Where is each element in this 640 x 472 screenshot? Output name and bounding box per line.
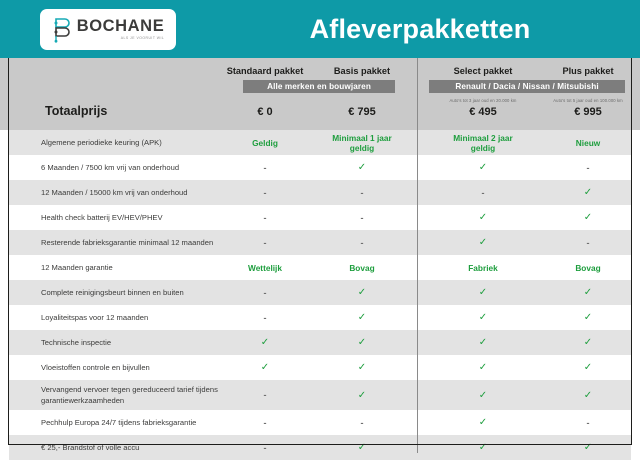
row-value: Nieuw: [546, 130, 630, 155]
table-row: Vervangend vervoer tegen gereduceerd tar…: [9, 380, 631, 410]
not-included-dash: -: [441, 180, 525, 205]
check-icon: ✓: [546, 180, 630, 205]
check-icon: ✓: [320, 330, 404, 355]
check-icon: ✓: [546, 280, 630, 305]
dash-glyph: -: [264, 288, 267, 298]
feature-rows: Algemene periodieke keuring (APK)GeldigM…: [9, 130, 631, 472]
check-icon: ✓: [441, 330, 525, 355]
check-icon: ✓: [546, 380, 630, 410]
not-included-dash: -: [320, 230, 404, 255]
price-standaard: € 0: [223, 106, 307, 118]
check-icon: ✓: [320, 355, 404, 380]
dash-glyph: -: [264, 163, 267, 173]
dash-glyph: -: [361, 418, 364, 428]
check-icon: ✓: [441, 230, 525, 255]
check-icon: ✓: [441, 380, 525, 410]
row-label: Vloeistoffen controle en bijvullen: [41, 355, 150, 380]
dash-glyph: -: [587, 163, 590, 173]
dash-glyph: -: [264, 313, 267, 323]
dash-glyph: -: [264, 213, 267, 223]
dash-glyph: -: [264, 418, 267, 428]
check-glyph: ✓: [584, 187, 592, 198]
value-text: Minimaal 1 jaar geldig: [320, 133, 404, 153]
value-text: Geldig: [252, 138, 278, 148]
check-glyph: ✓: [358, 390, 366, 401]
check-icon: ✓: [223, 330, 307, 355]
check-glyph: ✓: [584, 212, 592, 223]
row-value: Minimaal 1 jaar geldig: [320, 130, 404, 155]
row-value: Minimaal 2 jaar geldig: [441, 130, 525, 155]
table-row: Resterende fabrieksgarantie minimaal 12 …: [9, 230, 631, 255]
check-glyph: ✓: [584, 362, 592, 373]
dash-glyph: -: [361, 213, 364, 223]
dash-glyph: -: [264, 238, 267, 248]
dash-glyph: -: [587, 418, 590, 428]
table-row: Vloeistoffen controle en bijvullen✓✓✓✓: [9, 355, 631, 380]
row-value: Geldig: [223, 130, 307, 155]
check-glyph: ✓: [358, 162, 366, 173]
not-included-dash: -: [320, 410, 404, 435]
page-banner: BOCHANE ALS JE VOORUIT WIL Afleverpakket…: [0, 0, 640, 58]
check-glyph: ✓: [584, 390, 592, 401]
value-text: Wettelijk: [248, 263, 282, 273]
check-glyph: ✓: [479, 417, 487, 428]
check-glyph: ✓: [584, 287, 592, 298]
value-text: Bovag: [349, 263, 374, 273]
value-text: Fabriek: [468, 263, 498, 273]
dash-glyph: -: [361, 188, 364, 198]
column-header-select: Select pakket: [441, 66, 525, 76]
check-glyph: ✓: [584, 337, 592, 348]
not-included-dash: -: [546, 155, 630, 180]
check-glyph: ✓: [479, 162, 487, 173]
check-icon: ✓: [320, 380, 404, 410]
row-label: Health check batterij EV/HEV/PHEV: [41, 205, 163, 230]
logo-wordmark: BOCHANE: [77, 18, 165, 35]
row-value: Bovag: [546, 255, 630, 280]
check-icon: ✓: [546, 435, 630, 460]
check-glyph: ✓: [358, 337, 366, 348]
table-row: 6 Maanden / 7500 km vrij van onderhoud-✓…: [9, 155, 631, 180]
row-label: 12 Maanden / 15000 km vrij van onderhoud: [41, 180, 188, 205]
check-icon: ✓: [320, 155, 404, 180]
check-glyph: ✓: [479, 362, 487, 373]
check-icon: ✓: [546, 305, 630, 330]
group-banner-merken-select: Renault / Dacia / Nissan / Mitsubishi: [429, 80, 625, 93]
check-glyph: ✓: [358, 287, 366, 298]
check-glyph: ✓: [584, 312, 592, 323]
row-label: Complete reinigingsbeurt binnen en buite…: [41, 280, 184, 305]
table-row: Pechhulp Europa 24/7 tijdens fabrieksgar…: [9, 410, 631, 435]
table-footer-spacer: [9, 460, 631, 472]
frame-right-edge: [631, 58, 632, 445]
table-row: 12 Maanden garantieWettelijkBovagFabriek…: [9, 255, 631, 280]
price-basis: € 795: [320, 106, 404, 118]
row-label: 12 Maanden garantie: [41, 255, 113, 280]
check-icon: ✓: [546, 355, 630, 380]
not-included-dash: -: [320, 180, 404, 205]
row-label: Vervangend vervoer tegen gereduceerd tar…: [41, 380, 231, 410]
row-value: Bovag: [320, 255, 404, 280]
dash-glyph: -: [482, 188, 485, 198]
frame-left-edge: [8, 58, 9, 445]
check-icon: ✓: [320, 435, 404, 460]
check-icon: ✓: [441, 355, 525, 380]
page-title: Afleverpakketten: [200, 0, 640, 58]
row-label: Algemene periodieke keuring (APK): [41, 130, 162, 155]
row-value: Fabriek: [441, 255, 525, 280]
dash-glyph: -: [587, 238, 590, 248]
table-row: Algemene periodieke keuring (APK)GeldigM…: [9, 130, 631, 155]
logo-tagline: ALS JE VOORUIT WIL: [121, 37, 165, 40]
check-glyph: ✓: [261, 337, 269, 348]
row-value: Wettelijk: [223, 255, 307, 280]
column-header-plus: Plus pakket: [546, 66, 630, 76]
table-row: Health check batterij EV/HEV/PHEV--✓✓: [9, 205, 631, 230]
table-row: € 25,- Brandstof of volle accu-✓✓✓: [9, 435, 631, 460]
check-icon: ✓: [441, 410, 525, 435]
group-banner-alle-merken: Alle merken en bouwjaren: [243, 80, 395, 93]
check-icon: ✓: [441, 305, 525, 330]
not-included-dash: -: [223, 155, 307, 180]
dash-glyph: -: [361, 238, 364, 248]
check-icon: ✓: [441, 155, 525, 180]
check-icon: ✓: [441, 280, 525, 305]
check-glyph: ✓: [479, 337, 487, 348]
check-glyph: ✓: [479, 237, 487, 248]
row-label: € 25,- Brandstof of volle accu: [41, 435, 139, 460]
not-included-dash: -: [223, 180, 307, 205]
table-row: Loyaliteitspas voor 12 maanden-✓✓✓: [9, 305, 631, 330]
check-glyph: ✓: [479, 287, 487, 298]
check-icon: ✓: [546, 205, 630, 230]
row-label: Loyaliteitspas voor 12 maanden: [41, 305, 148, 330]
check-glyph: ✓: [261, 362, 269, 373]
totaalprijs-label: Totaalprijs: [45, 104, 107, 118]
frame-bottom-edge: [8, 444, 631, 445]
value-text: Bovag: [575, 263, 600, 273]
check-icon: ✓: [320, 305, 404, 330]
column-header-basis: Basis pakket: [320, 66, 404, 76]
dash-glyph: -: [264, 188, 267, 198]
check-glyph: ✓: [479, 212, 487, 223]
not-included-dash: -: [320, 205, 404, 230]
not-included-dash: -: [223, 305, 307, 330]
afleverpakketten-comparison-page: BOCHANE ALS JE VOORUIT WIL Afleverpakket…: [0, 0, 640, 453]
check-icon: ✓: [223, 355, 307, 380]
dash-glyph: -: [264, 390, 267, 400]
not-included-dash: -: [546, 410, 630, 435]
not-included-dash: -: [223, 205, 307, 230]
check-glyph: ✓: [479, 312, 487, 323]
not-included-dash: -: [223, 410, 307, 435]
check-icon: ✓: [441, 205, 525, 230]
check-glyph: ✓: [358, 362, 366, 373]
group-divider: [417, 58, 418, 453]
row-label: 6 Maanden / 7500 km vrij van onderhoud: [41, 155, 179, 180]
value-text: Minimaal 2 jaar geldig: [441, 133, 525, 153]
table-row: 12 Maanden / 15000 km vrij van onderhoud…: [9, 180, 631, 205]
value-text: Nieuw: [576, 138, 600, 148]
column-header-standaard: Standaard pakket: [223, 66, 307, 76]
price-plus: € 995: [546, 106, 630, 118]
not-included-dash: -: [223, 380, 307, 410]
price-select: € 495: [441, 106, 525, 118]
check-icon: ✓: [546, 330, 630, 355]
bochane-logo[interactable]: BOCHANE ALS JE VOORUIT WIL: [40, 9, 176, 50]
row-label: Pechhulp Europa 24/7 tijdens fabrieksgar…: [41, 410, 196, 435]
column-note-plus: Auto's tot 5 jaar oud en 100.000 km: [538, 96, 638, 105]
table-row: Complete reinigingsbeurt binnen en buite…: [9, 280, 631, 305]
not-included-dash: -: [223, 435, 307, 460]
bochane-b-icon: [52, 17, 72, 43]
check-glyph: ✓: [358, 312, 366, 323]
check-glyph: ✓: [479, 390, 487, 401]
not-included-dash: -: [223, 230, 307, 255]
row-label: Technische inspectie: [41, 330, 111, 355]
row-label: Resterende fabrieksgarantie minimaal 12 …: [41, 230, 213, 255]
not-included-dash: -: [223, 280, 307, 305]
check-icon: ✓: [441, 435, 525, 460]
not-included-dash: -: [546, 230, 630, 255]
check-icon: ✓: [320, 280, 404, 305]
table-row: Technische inspectie✓✓✓✓: [9, 330, 631, 355]
column-note-select: Auto's tot 3 jaar oud en 20.000 km: [433, 96, 533, 105]
